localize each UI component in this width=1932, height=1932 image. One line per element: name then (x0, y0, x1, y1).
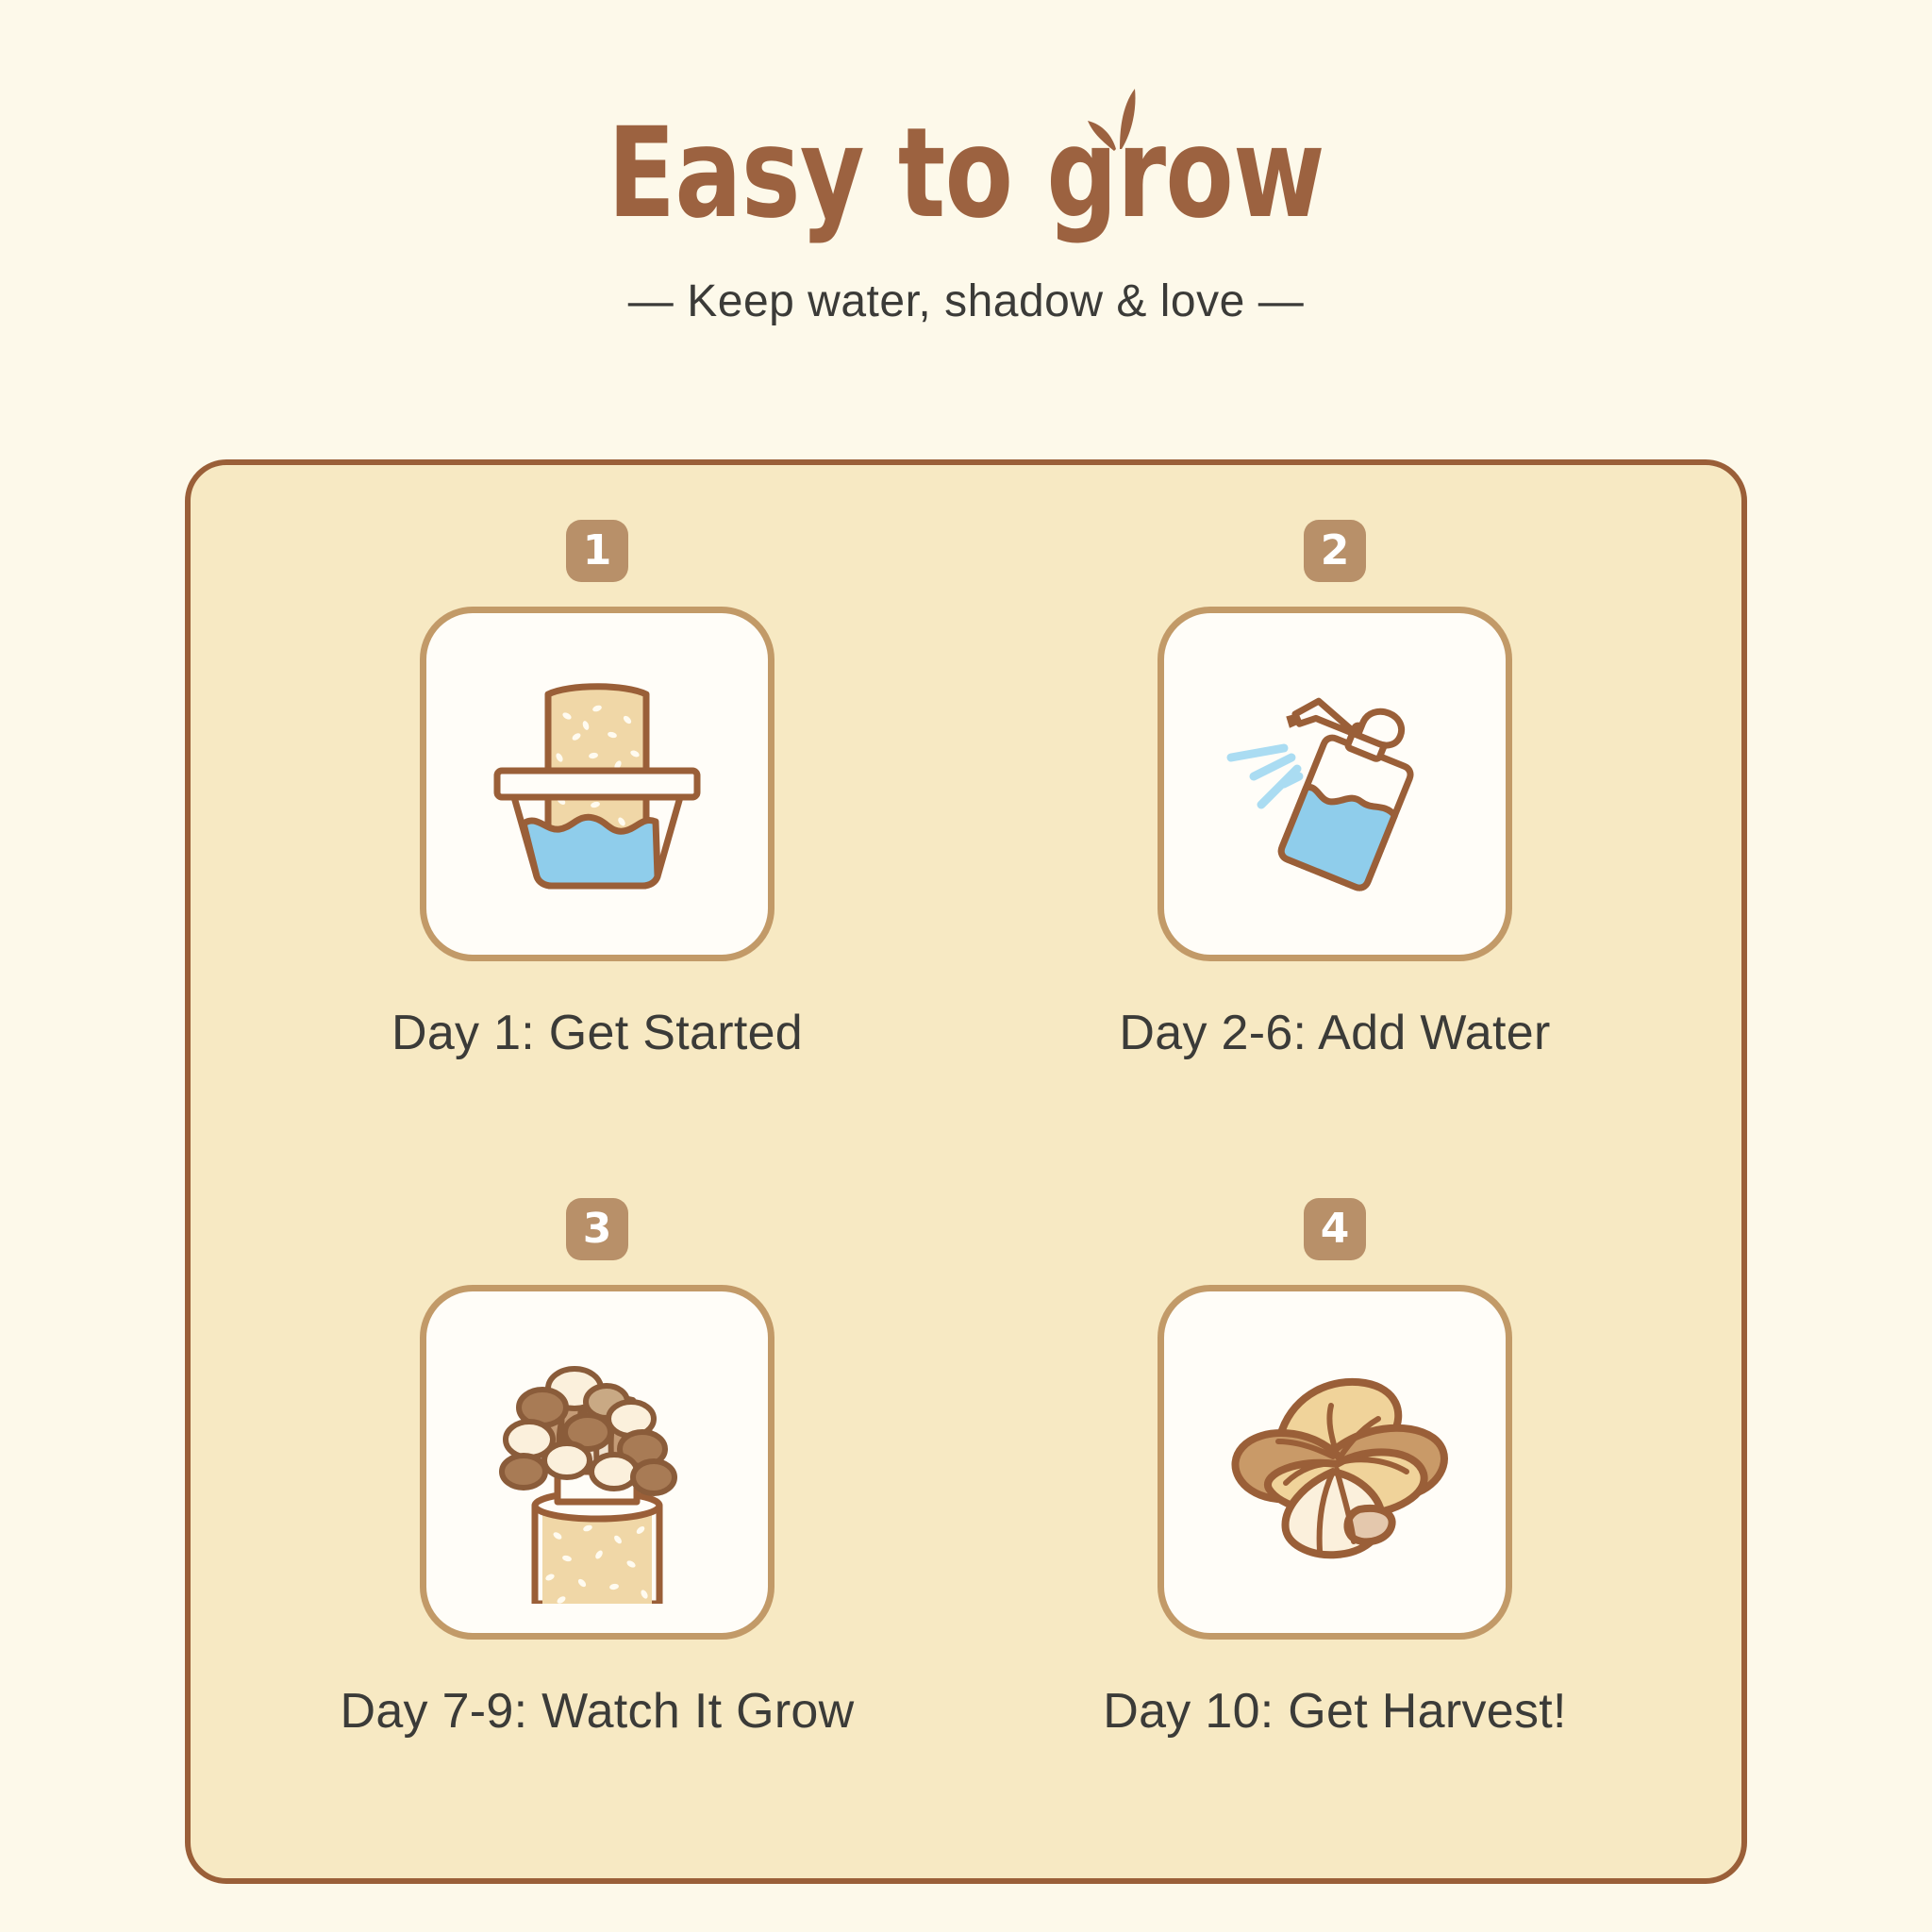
step-caption-4: Day 10: Get Harvest! (1103, 1683, 1567, 1740)
step-badge-3: 3 (566, 1198, 628, 1260)
subtitle-dash-left: — (615, 275, 688, 327)
subtitle-dash-right: — (1245, 275, 1318, 327)
header: Easy to grow —Keep water, shadow & love— (0, 0, 1932, 327)
leaf-sprout-icon (1082, 83, 1148, 153)
step-3[interactable]: 3 (228, 1172, 966, 1850)
step-icon-card-4[interactable] (1158, 1285, 1512, 1640)
steps-panel: 1 (185, 459, 1747, 1884)
spray-bottle-icon (1193, 642, 1476, 925)
substrate-block-in-water-tray-icon (456, 642, 739, 925)
step-badge-1: 1 (566, 520, 628, 582)
step-icon-card-1[interactable] (420, 607, 774, 961)
title-wrap: Easy to grow (518, 111, 1414, 236)
steps-grid: 1 (191, 465, 1741, 1878)
step-icon-card-2[interactable] (1158, 607, 1512, 961)
step-caption-2: Day 2-6: Add Water (1119, 1005, 1550, 1061)
mushroom-cluster-growing-from-jar-icon (456, 1321, 739, 1604)
step-1[interactable]: 1 (228, 493, 966, 1172)
step-badge-4: 4 (1304, 1198, 1366, 1260)
subtitle: —Keep water, shadow & love— (0, 275, 1932, 327)
oyster-mushroom-harvest-icon (1193, 1321, 1476, 1604)
page-title: Easy to grow (608, 111, 1324, 236)
subtitle-text: Keep water, shadow & love (687, 276, 1245, 326)
step-icon-card-3[interactable] (420, 1285, 774, 1640)
step-caption-1: Day 1: Get Started (391, 1005, 803, 1061)
step-2[interactable]: 2 (966, 493, 1704, 1172)
step-badge-2: 2 (1304, 520, 1366, 582)
step-caption-3: Day 7-9: Watch It Grow (340, 1683, 854, 1740)
step-4[interactable]: 4 (966, 1172, 1704, 1850)
infographic-page: Easy to grow —Keep water, shadow & love—… (0, 0, 1932, 1932)
